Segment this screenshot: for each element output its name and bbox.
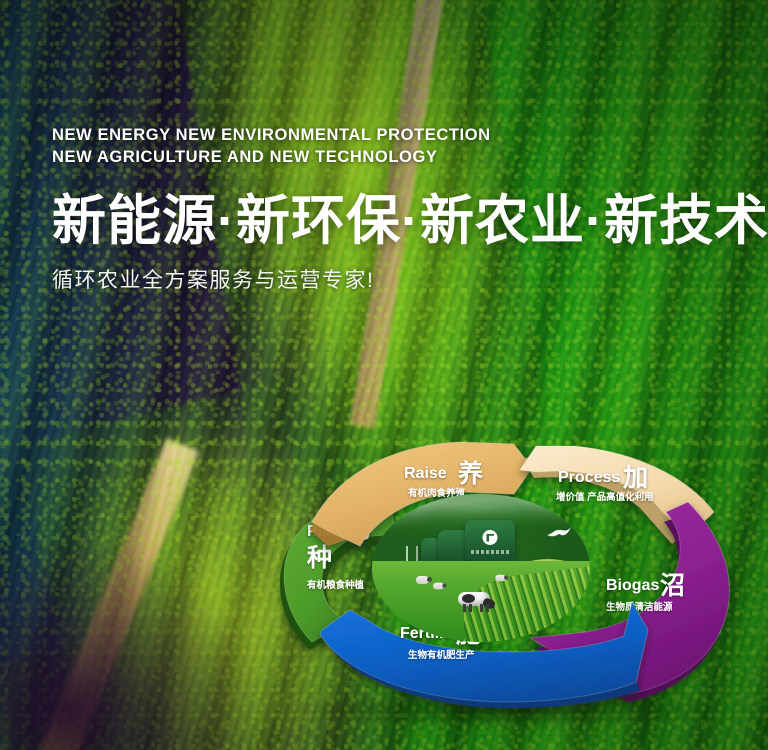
raise-en-label: Raise [404, 465, 447, 482]
scene-sheep [433, 583, 444, 590]
hero-headline: 新能源·新环保·新农业·新技术 [52, 190, 732, 252]
hero-eyebrow: NEW ENERGY NEW ENVIRONMENTAL PROTECTION … [52, 124, 732, 168]
process-en-label: Process [558, 469, 620, 486]
fertilizer-sub-label: 生物有机肥生产 [408, 649, 475, 661]
scene-cow [458, 592, 494, 612]
biogas-sub-label: 生物质清洁能源 [606, 601, 673, 613]
planting-sub-label: 有机粮食种植 [307, 579, 365, 591]
scene-cow-leg [469, 604, 472, 612]
scene-cow-leg [463, 604, 466, 612]
scene-tank-text-strip [471, 550, 509, 554]
cycle-label-raise: Raise 养 有机肉食养殖 [404, 459, 483, 499]
biogas-cn-label: 沼 [660, 572, 685, 600]
raise-cn-label: 养 [457, 459, 483, 488]
cycle-center-scene [372, 494, 590, 642]
scene-cow-leg [486, 604, 489, 612]
scene-sheep [495, 575, 505, 581]
planting-cn-label: 种 [307, 544, 332, 572]
scene-tank-logo-icon [483, 530, 498, 545]
scene-sheep [416, 576, 429, 584]
hero-banner: NEW ENERGY NEW ENVIRONMENTAL PROTECTION … [0, 0, 768, 750]
scene-bird-icon [546, 524, 572, 538]
biogas-en-label: Biogas [606, 577, 659, 594]
hero-subline: 循环农业全方案服务与运营专家! [52, 266, 732, 296]
hero-copy-block: NEW ENERGY NEW ENVIRONMENTAL PROTECTION … [52, 124, 732, 296]
process-cn-label: 加 [622, 464, 648, 492]
scene-cow-leg [480, 604, 483, 612]
